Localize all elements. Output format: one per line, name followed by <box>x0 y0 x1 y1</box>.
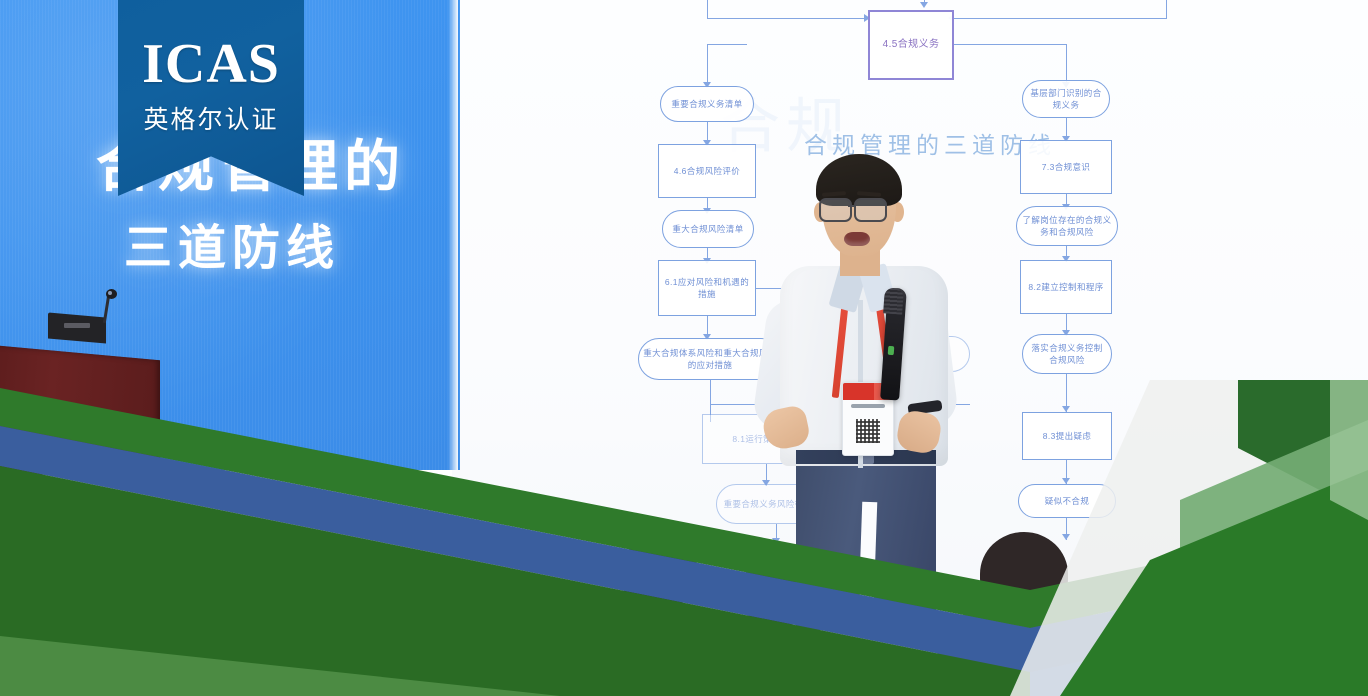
badge-qr-code <box>856 419 880 443</box>
flow-node-label: 重要合规义务清单 <box>671 98 742 110</box>
microphone-grille <box>883 287 904 314</box>
flow-connector <box>952 18 1167 19</box>
flow-node-understand-post-obligations: 了解岗位存在的合规义务和合规风险 <box>1016 206 1118 246</box>
flow-node-8-3: 8.3提出疑虑 <box>1022 412 1112 460</box>
flow-node-4-6: 4.6合规风险评价 <box>658 144 756 198</box>
flow-node-label: 基层部门识别的合规义务 <box>1027 87 1105 112</box>
flow-node-label: 8.3提出疑虑 <box>1043 430 1092 442</box>
microphone-highlight <box>108 291 112 295</box>
audience-head <box>620 536 698 608</box>
flow-connector <box>710 380 711 406</box>
podium-display <box>64 323 90 328</box>
overlay-green-field-lower <box>0 636 560 696</box>
flow-node-label: 8.2建立控制和程序 <box>1028 281 1103 293</box>
flow-node-label: 重大合规体系风险和重大合规风险的应对措施 <box>643 347 777 372</box>
flow-node-suspected-noncompliance: 疑似不合规 <box>1018 484 1116 518</box>
flow-connector <box>707 44 708 86</box>
flow-node-label: 了解岗位存在的合规义务和合规风险 <box>1021 214 1113 239</box>
flow-node-label: 4.6合规风险评价 <box>674 165 740 177</box>
flow-connector <box>707 18 867 19</box>
flow-connector <box>707 0 708 18</box>
flow-node-7-3: 7.3合规意识 <box>1020 140 1112 194</box>
podium <box>0 345 160 485</box>
flow-node-dept-identified-obligations: 基层部门识别的合规义务 <box>1022 80 1110 118</box>
flow-connector <box>1166 0 1167 18</box>
microphone-status-led <box>888 346 895 355</box>
flow-node-label: 7.3合规意识 <box>1042 161 1091 173</box>
flow-node-4-5: 4.5合规义务 <box>868 10 954 80</box>
audience-head <box>1240 560 1330 646</box>
flow-arrow <box>1062 534 1070 540</box>
podium-console <box>48 312 106 343</box>
flow-node-label: 重大合规风险清单 <box>672 223 743 235</box>
flow-arrow <box>920 2 928 8</box>
speaker-figure <box>760 150 1020 620</box>
flow-connector <box>952 44 1067 45</box>
flow-node-label: 6.1应对风险和机遇的措施 <box>663 276 751 301</box>
flow-node-important-obligations-list: 重要合规义务清单 <box>660 86 754 122</box>
speaker-mouth <box>844 232 870 246</box>
flow-node-major-risk-list: 重大合规风险清单 <box>662 210 754 248</box>
icas-wordmark: ICAS <box>142 36 280 92</box>
screenshot-root: 合规管理的 三道防线 合规 合规管理的三道防线 4.5合规义务 重要合规义务清单 <box>0 0 1368 696</box>
flow-node-6-1: 6.1应对风险和机遇的措施 <box>658 260 756 316</box>
eyeglasses-lens-right <box>854 198 887 222</box>
flow-node-label: 疑似不合规 <box>1045 495 1090 507</box>
flow-node-8-2: 8.2建立控制和程序 <box>1020 260 1112 314</box>
eyeglasses-lens-left <box>819 198 852 222</box>
flow-node-label: 4.5合规义务 <box>883 38 940 53</box>
flow-node-implement-obligations: 落实合规义务控制合规风险 <box>1022 334 1112 374</box>
led-wall-headline-line2: 三道防线 <box>124 208 340 278</box>
icas-chinese-name: 英格尔认证 <box>143 100 278 136</box>
flow-node-label: 落实合规义务控制合规风险 <box>1027 342 1107 367</box>
flow-connector <box>707 44 747 45</box>
eyeglasses-bridge <box>848 205 855 207</box>
badge-name-line <box>851 404 885 408</box>
